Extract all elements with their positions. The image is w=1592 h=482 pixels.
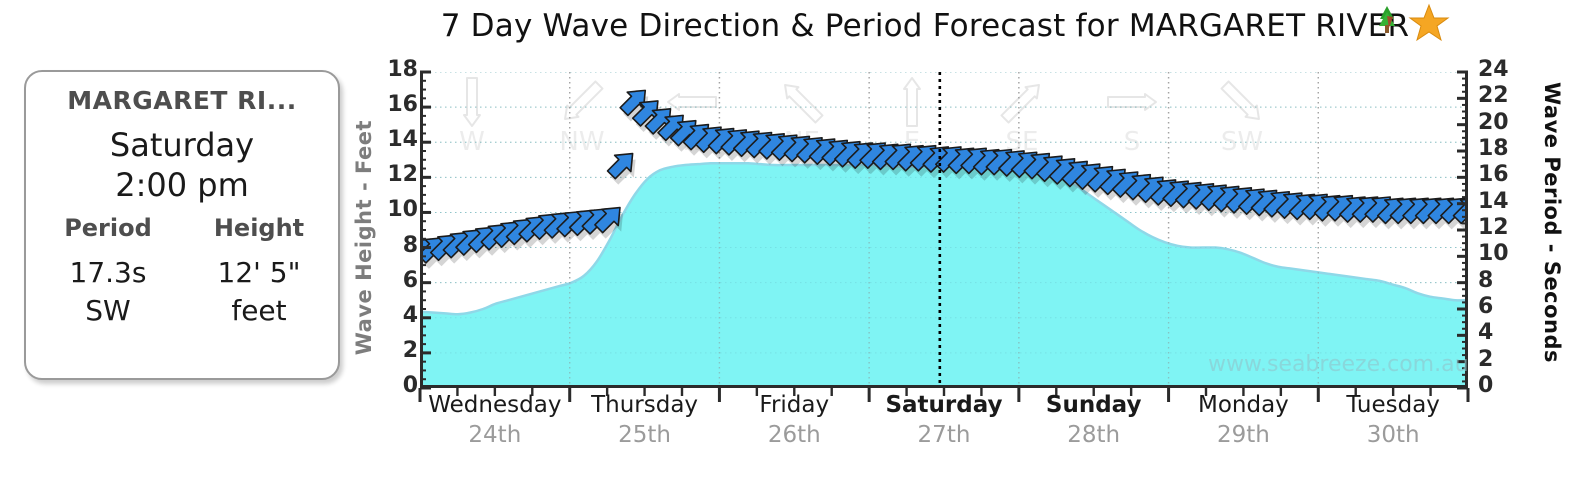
y-tick-right-4: 4 [1478,320,1522,345]
forecast-plot: WNWNNEESESSW [420,72,1468,388]
y-tick-right-8: 8 [1478,268,1522,293]
y-tick-left-12: 12 [372,162,418,187]
panel-height-header: Height [186,214,332,242]
day-label-sunday: Sunday28th [1019,392,1169,448]
day-date: 24th [420,422,570,448]
panel-period-header: Period [36,214,180,242]
day-date: 29th [1169,422,1319,448]
title-badges [1373,2,1453,46]
day-date: 25th [570,422,720,448]
page-title: 7 Day Wave Direction & Period Forecast f… [380,8,1470,44]
legend-arrow-E [904,78,920,126]
site-watermark: www.seabreeze.com.au [1208,352,1469,377]
x-axis-day-labels: Wednesday24thThursday25thFriday26thSatur… [420,392,1468,472]
day-name: Tuesday [1318,392,1468,418]
panel-day: Saturday [26,126,338,164]
y-tick-right-6: 6 [1478,294,1522,319]
day-name: Wednesday [420,392,570,418]
day-name: Monday [1169,392,1319,418]
legend-arrow-NE [785,85,822,122]
day-label-monday: Monday29th [1169,392,1319,448]
y-tick-right-10: 10 [1478,241,1522,266]
legend-arrow-SW [1221,81,1258,118]
y-tick-right-16: 16 [1478,162,1522,187]
y-axis-left-ticks: 024681012141618 [372,0,418,482]
y-tick-right-18: 18 [1478,136,1522,161]
y-tick-right-12: 12 [1478,215,1522,240]
legend-arrow-W [464,78,480,126]
y-tick-right-2: 2 [1478,347,1522,372]
panel-time: 2:00 pm [26,166,338,204]
y-tick-left-16: 16 [372,92,418,117]
plot-canvas: WNWNNEESESSW [420,72,1468,388]
y-tick-left-4: 4 [372,303,418,328]
legend-arrow-NW [565,81,602,118]
star-icon [1410,5,1448,40]
day-name: Sunday [1019,392,1169,418]
day-name: Friday [719,392,869,418]
day-name: Saturday [869,392,1019,418]
y-tick-right-0: 0 [1478,373,1522,398]
y-axis-right-ticks: 024681012141618202224 [1478,0,1522,482]
forecast-info-panel: MARGARET RI... Saturday 2:00 pm Period H… [24,70,340,380]
y-tick-left-14: 14 [372,127,418,152]
y-tick-left-10: 10 [372,197,418,222]
day-date: 27th [869,422,1019,448]
day-label-thursday: Thursday25th [570,392,720,448]
y-tick-left-6: 6 [372,268,418,293]
y-tick-right-22: 22 [1478,83,1522,108]
legend-arrow-SE [1001,85,1038,122]
day-label-wednesday: Wednesday24th [420,392,570,448]
y-tick-left-0: 0 [372,373,418,398]
y-tick-right-20: 20 [1478,110,1522,135]
wave-direction-arrow-16 [608,154,633,179]
day-label-friday: Friday26th [719,392,869,448]
panel-height-unit: feet [186,294,332,327]
wave-forecast-widget: MARGARET RI... Saturday 2:00 pm Period H… [0,0,1592,482]
y-tick-right-24: 24 [1478,57,1522,82]
day-date: 28th [1019,422,1169,448]
panel-period-direction: SW [36,294,180,327]
tree-icon [1379,6,1395,33]
day-name: Thursday [570,392,720,418]
y-tick-left-18: 18 [372,57,418,82]
day-date: 30th [1318,422,1468,448]
panel-period-value: 17.3s [36,256,180,289]
y-tick-right-14: 14 [1478,189,1522,214]
day-date: 26th [719,422,869,448]
y-axis-right-title: Wave Period - Seconds [1540,82,1564,363]
panel-location-title: MARGARET RI... [26,86,338,115]
y-tick-left-2: 2 [372,338,418,363]
panel-height-value: 12' 5" [186,256,332,289]
legend-label-SW: SW [1221,127,1263,157]
day-label-tuesday: Tuesday30th [1318,392,1468,448]
y-tick-left-8: 8 [372,233,418,258]
day-label-saturday: Saturday27th [869,392,1019,448]
